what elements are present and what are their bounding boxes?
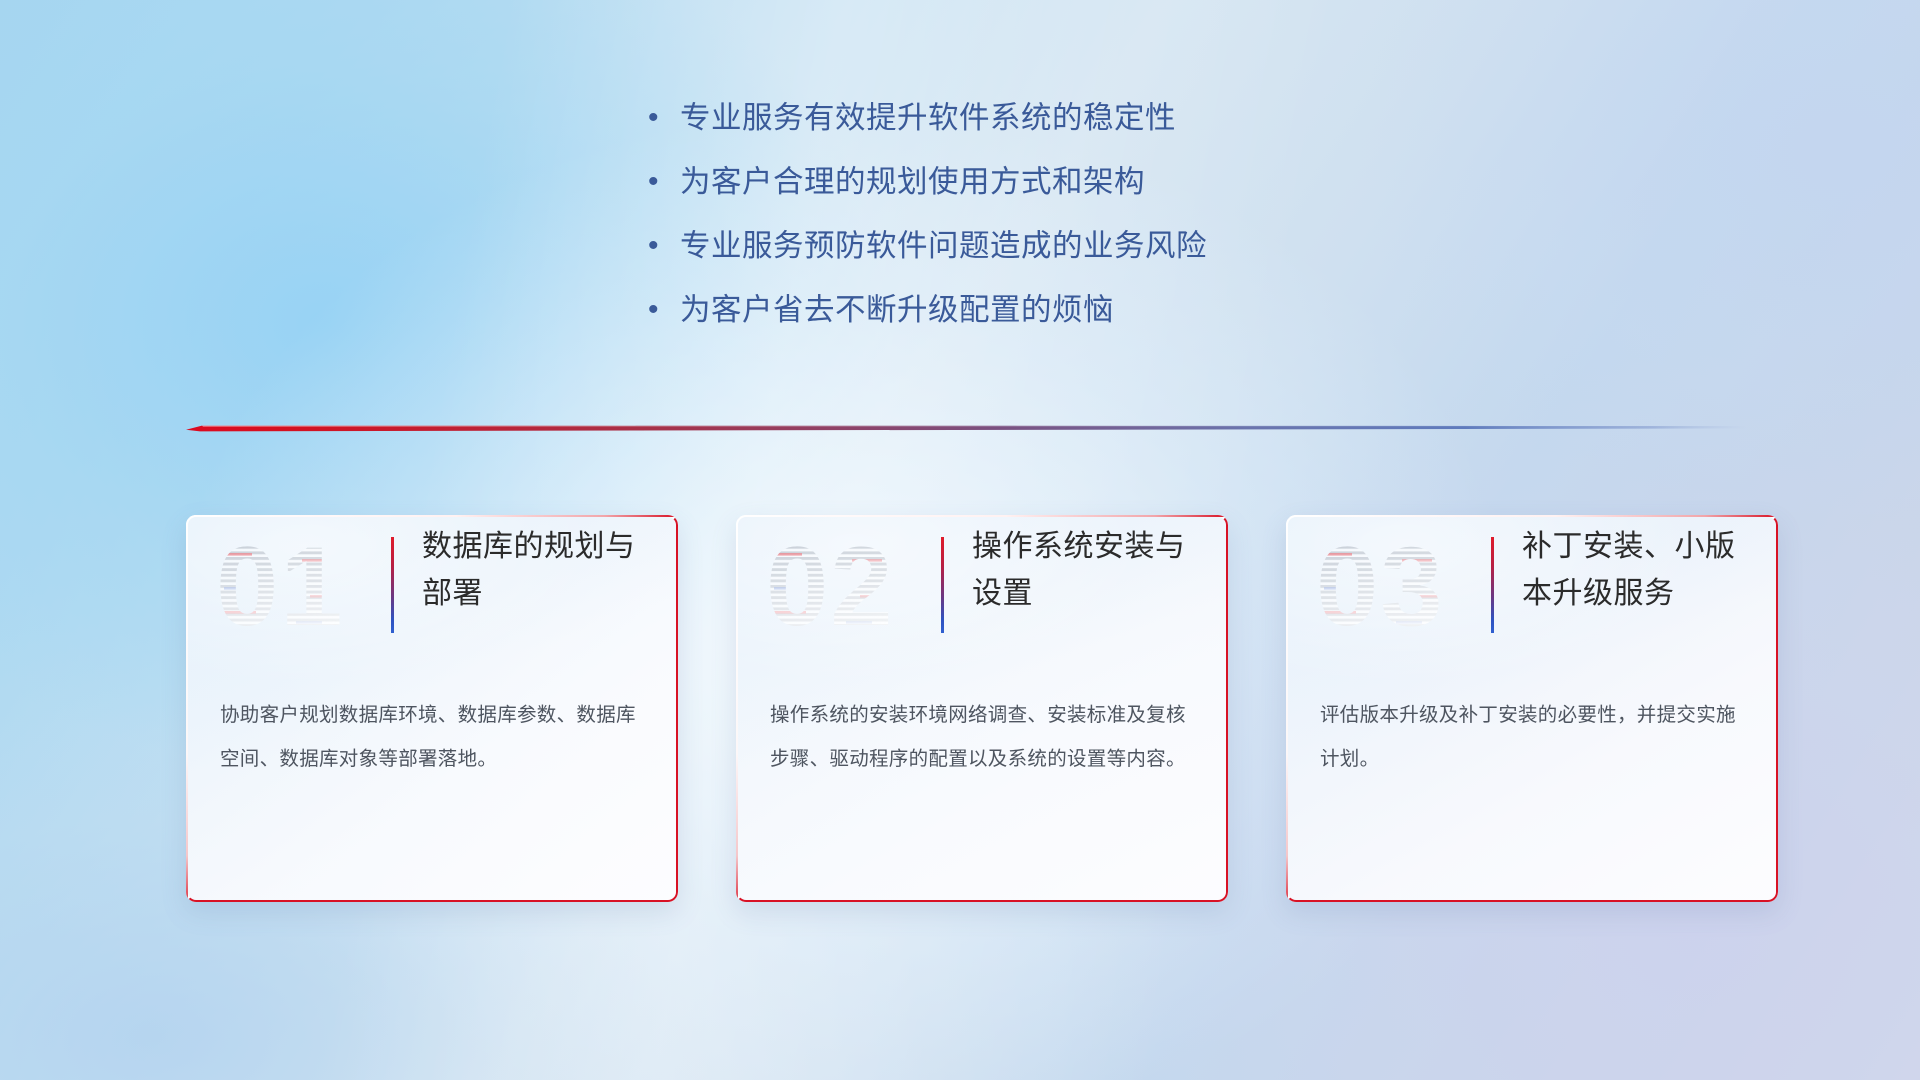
card-title: 数据库的规划与部署: [422, 523, 662, 617]
card-description: 评估版本升级及补丁安装的必要性，并提交实施计划。: [1320, 693, 1740, 781]
bullet-text: 为客户省去不断升级配置的烦恼: [680, 278, 1114, 342]
service-card-01[interactable]: 01 数据库的规划与部署: [186, 515, 678, 902]
list-item: • 专业服务有效提升软件系统的稳定性: [648, 86, 1207, 150]
card-title: 操作系统安装与设置: [972, 523, 1212, 617]
section-divider: [186, 418, 1746, 438]
divider-taper-shape: [186, 418, 1746, 438]
list-item: • 为客户省去不断升级配置的烦恼: [648, 278, 1207, 342]
card-number-03: 03: [1310, 529, 1480, 649]
bullet-text: 为客户合理的规划使用方式和架构: [680, 150, 1145, 214]
card-accent-bar: [1491, 537, 1494, 633]
striped-numeral-glyph: 01: [210, 529, 380, 649]
card-title: 补丁安装、小版本升级服务: [1522, 523, 1762, 617]
bullet-dot-icon: •: [648, 150, 680, 214]
bullet-dot-icon: •: [648, 86, 680, 150]
card-description: 协助客户规划数据库环境、数据库参数、数据库空间、数据库对象等部署落地。: [220, 693, 640, 781]
card-accent-bar: [391, 537, 394, 633]
card-number-01: 01: [210, 529, 380, 649]
service-card-row: 01 数据库的规划与部署: [0, 515, 1920, 935]
card-header: 03 补丁安装、小版本升级服务: [1286, 515, 1778, 665]
card-header: 02 操作系统安装与设置: [736, 515, 1228, 665]
striped-numeral-glyph: 03: [1310, 529, 1480, 649]
striped-numeral-glyph: 02: [760, 529, 930, 649]
bullet-text: 专业服务预防软件问题造成的业务风险: [680, 214, 1207, 278]
list-item: • 专业服务预防软件问题造成的业务风险: [648, 214, 1207, 278]
service-card-02[interactable]: 02 操作系统安装与设置: [736, 515, 1228, 902]
bullet-text: 专业服务有效提升软件系统的稳定性: [680, 86, 1176, 150]
bullet-dot-icon: •: [648, 278, 680, 342]
bullet-dot-icon: •: [648, 214, 680, 278]
card-number-02: 02: [760, 529, 930, 649]
card-description: 操作系统的安装环境网络调查、安装标准及复核步骤、驱动程序的配置以及系统的设置等内…: [770, 693, 1190, 781]
list-item: • 为客户合理的规划使用方式和架构: [648, 150, 1207, 214]
service-card-03[interactable]: 03 补丁安装、小版本升级服务: [1286, 515, 1778, 902]
card-header: 01 数据库的规划与部署: [186, 515, 678, 665]
card-accent-bar: [941, 537, 944, 633]
benefits-bullet-list: • 专业服务有效提升软件系统的稳定性 • 为客户合理的规划使用方式和架构 • 专…: [648, 86, 1207, 342]
